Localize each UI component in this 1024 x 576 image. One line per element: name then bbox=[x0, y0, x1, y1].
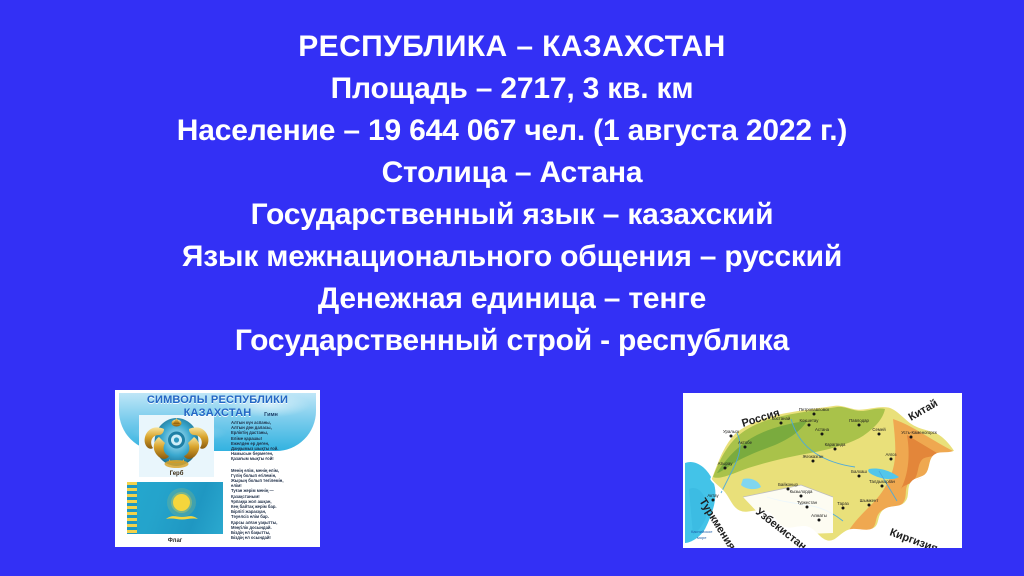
state-flag-icon bbox=[127, 482, 223, 534]
svg-text:Петропавловск: Петропавловск bbox=[799, 407, 829, 412]
map-label-caspian-sea-2: море bbox=[697, 535, 707, 540]
svg-text:Павлодар: Павлодар bbox=[849, 418, 869, 423]
state-emblem-block: Герб bbox=[139, 415, 214, 477]
svg-text:Талдыкорган: Талдыкорган bbox=[869, 479, 895, 484]
svg-text:Семей: Семей bbox=[872, 427, 886, 432]
flag-label: Флаг bbox=[127, 538, 223, 544]
svg-text:Уральск: Уральск bbox=[723, 429, 739, 434]
emblem-label: Герб bbox=[139, 471, 214, 477]
svg-text:Алматы: Алматы bbox=[811, 513, 827, 518]
poster-title-line-1: СИМВОЛЫ РЕСПУБЛИКИ bbox=[119, 394, 316, 407]
map-graphic: Петропавловск Костанай Кокшетау Павлодар… bbox=[683, 393, 962, 548]
svg-text:Атырау: Атырау bbox=[718, 461, 734, 466]
fact-line-population: Население – 19 644 067 чел. (1 августа 2… bbox=[0, 110, 1024, 152]
svg-text:Туркестан: Туркестан bbox=[797, 500, 818, 505]
fact-line-capital: Столица – Астана bbox=[0, 152, 1024, 194]
anthem-verse-2: Менің елім, менің елім,Гүлің болып егіле… bbox=[225, 468, 317, 541]
svg-text:Тараз: Тараз bbox=[837, 501, 849, 506]
svg-text:Балхаш: Балхаш bbox=[851, 469, 867, 474]
fact-line-interethnic-language: Язык межнационального общения – русский bbox=[0, 236, 1024, 278]
anthem-verse-1: Алтын күн аспаны,Алтын дән даласы,Ерлікт… bbox=[225, 420, 317, 462]
kazakhstan-map-image: Петропавловск Костанай Кокшетау Павлодар… bbox=[683, 393, 962, 548]
svg-text:Усть-Каменогорск: Усть-Каменогорск bbox=[901, 430, 937, 435]
svg-text:Караганда: Караганда bbox=[825, 442, 846, 447]
map-label-caspian-sea: Каспийское bbox=[691, 529, 713, 534]
svg-text:Шымкент: Шымкент bbox=[860, 498, 879, 503]
presentation-slide: РЕСПУБЛИКА – КАЗАХСТАН Площадь – 2717, 3… bbox=[0, 0, 1024, 576]
anthem-text-block: Гимн Алтын күн аспаны,Алтын дән даласы,Е… bbox=[225, 412, 317, 544]
poster-title-line-2: КАЗАХСТАН bbox=[119, 407, 316, 420]
poster-title: СИМВОЛЫ РЕСПУБЛИКИ КАЗАХСТАН bbox=[119, 394, 316, 419]
fact-line-area: Площадь – 2717, 3 кв. км bbox=[0, 68, 1024, 110]
svg-text:Аягоз: Аягоз bbox=[886, 452, 897, 457]
state-emblem-icon bbox=[139, 415, 214, 470]
svg-text:Актау: Актау bbox=[707, 493, 719, 498]
svg-text:Кызылорда: Кызылорда bbox=[790, 489, 813, 494]
svg-text:Жезказган: Жезказган bbox=[803, 454, 824, 459]
anthem-line: Біздің ел осындай! bbox=[231, 535, 317, 540]
svg-text:Байконыр: Байконыр bbox=[778, 482, 798, 487]
flag-sun bbox=[173, 494, 190, 511]
anthem-line: Қазағым мықты ғой! bbox=[231, 456, 317, 461]
fact-line-government: Государственный строй - республика bbox=[0, 320, 1024, 362]
symbols-poster-image: СИМВОЛЫ РЕСПУБЛИКИ КАЗАХСТАН bbox=[115, 390, 320, 547]
country-facts-block: РЕСПУБЛИКА – КАЗАХСТАН Площадь – 2717, 3… bbox=[0, 26, 1024, 362]
fact-line-state-language: Государственный язык – казахский bbox=[0, 194, 1024, 236]
fact-line-title: РЕСПУБЛИКА – КАЗАХСТАН bbox=[0, 26, 1024, 68]
flag-eagle bbox=[165, 513, 199, 522]
fact-line-currency: Денежная единица – тенге bbox=[0, 278, 1024, 320]
svg-text:Кокшетау: Кокшетау bbox=[800, 418, 820, 423]
state-flag-block: Флаг bbox=[127, 482, 223, 544]
flag-ornament bbox=[127, 482, 137, 534]
svg-text:Актобе: Актобе bbox=[738, 440, 753, 445]
svg-text:Астана: Астана bbox=[815, 427, 830, 432]
